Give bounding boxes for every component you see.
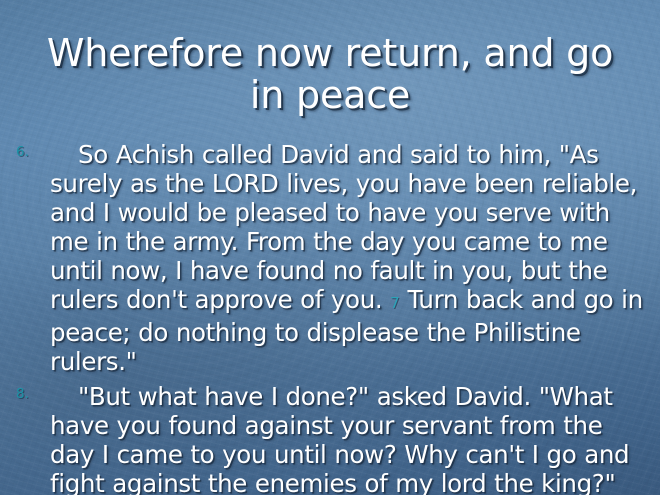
presentation-slide: Wherefore now return, and go in peace 6.… [0, 0, 660, 495]
inline-verse-number: 7 [390, 294, 400, 312]
body-paragraph: 8."But what have I done?" asked David. "… [10, 382, 654, 495]
verse-number-marker: 8. [16, 387, 46, 401]
slide-content: Wherefore now return, and go in peace 6.… [0, 0, 660, 495]
slide-title-placeholder: Wherefore now return, and go in peace [42, 32, 618, 116]
slide-body-placeholder: 6.So Achish called David and said to him… [10, 140, 654, 495]
verse-number-marker: 6. [16, 145, 46, 159]
page-title: Wherefore now return, and go in peace [42, 32, 618, 116]
body-paragraph: 6.So Achish called David and said to him… [10, 140, 654, 376]
paragraph-text-segment: "But what have I done?" asked David. "Wh… [50, 382, 629, 495]
